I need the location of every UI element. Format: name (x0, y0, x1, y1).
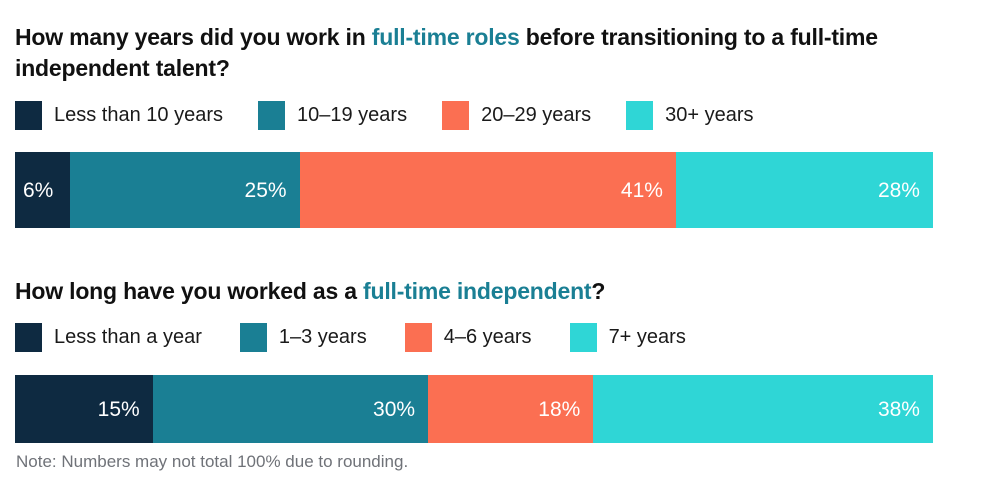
legend-item-20-29-years: 20–29 years (442, 101, 591, 130)
bar-segment-less-than-a-year: 15% (15, 375, 153, 443)
question-1-highlight: full-time roles (372, 24, 520, 50)
legend-swatch-coral-icon (442, 101, 469, 130)
legend-label-1: 10–19 years (297, 105, 407, 125)
legend-swatch-navy-icon (15, 323, 42, 352)
footnote-rounding-note: Note: Numbers may not total 100% due to … (16, 452, 408, 472)
bar-segment-label-2: 41% (621, 180, 663, 201)
legend-swatch-teal-icon (258, 101, 285, 130)
legend-item-10-19-years: 10–19 years (258, 101, 407, 130)
legend-swatch-cyan-icon (626, 101, 653, 130)
bar-segment-label-0: 6% (23, 180, 53, 201)
question-2-text-before: How long have you worked as a (15, 278, 363, 304)
legend-label-2: 4–6 years (444, 327, 532, 347)
legend-item-less-than-10-years: Less than 10 years (15, 101, 223, 130)
stacked-bar-question-1: 6% 25% 41% 28% (15, 152, 933, 228)
bar-segment-label-1: 30% (373, 399, 415, 420)
legend-label-0: Less than a year (54, 327, 202, 347)
bar-segment-label-3: 28% (878, 180, 920, 201)
question-2-highlight: full-time independent (363, 278, 591, 304)
bar-segment-7-plus-years: 38% (593, 375, 933, 443)
legend-label-3: 7+ years (609, 327, 686, 347)
bar-segment-label-2: 18% (538, 399, 580, 420)
bar-segment-1-3-years: 30% (153, 375, 428, 443)
stacked-bar-question-2: 15% 30% 18% 38% (15, 375, 933, 443)
question-2-title: How long have you worked as a full-time … (15, 276, 915, 307)
question-1-title: How many years did you work in full-time… (15, 22, 915, 84)
legend-swatch-cyan-icon (570, 323, 597, 352)
legend-swatch-teal-icon (240, 323, 267, 352)
infographic-root: How many years did you work in full-time… (0, 0, 1000, 488)
bar-segment-label-3: 38% (878, 399, 920, 420)
legend-question-1: Less than 10 years 10–19 years 20–29 yea… (15, 100, 754, 130)
bar-segment-less-than-10-years: 6% (15, 152, 70, 228)
bar-segment-10-19-years: 25% (70, 152, 300, 228)
legend-label-1: 1–3 years (279, 327, 367, 347)
legend-item-7-plus-years: 7+ years (570, 323, 686, 352)
bar-segment-label-0: 15% (98, 399, 140, 420)
legend-swatch-coral-icon (405, 323, 432, 352)
legend-label-2: 20–29 years (481, 105, 591, 125)
legend-question-2: Less than a year 1–3 years 4–6 years 7+ … (15, 322, 686, 352)
bar-segment-label-1: 25% (245, 180, 287, 201)
legend-item-30-plus-years: 30+ years (626, 101, 753, 130)
bar-segment-20-29-years: 41% (300, 152, 676, 228)
legend-swatch-navy-icon (15, 101, 42, 130)
legend-label-3: 30+ years (665, 105, 753, 125)
bar-segment-30-plus-years: 28% (676, 152, 933, 228)
legend-item-4-6-years: 4–6 years (405, 323, 532, 352)
question-1-text-before: How many years did you work in (15, 24, 372, 50)
bar-segment-4-6-years: 18% (428, 375, 593, 443)
legend-item-1-3-years: 1–3 years (240, 323, 367, 352)
legend-item-less-than-a-year: Less than a year (15, 323, 202, 352)
legend-label-0: Less than 10 years (54, 105, 223, 125)
question-2-text-after: ? (591, 278, 605, 304)
